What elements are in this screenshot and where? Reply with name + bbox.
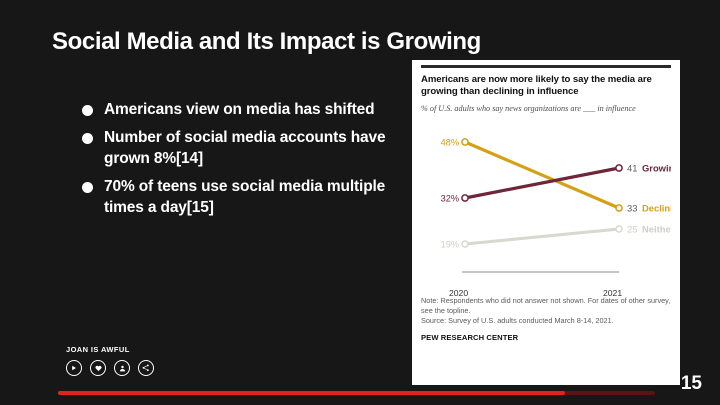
x-tick-2021: 2021 [603,288,622,298]
end-name-growing: Growing [642,162,671,173]
chart-plot-area: 48% 32% 19% 41 Growing 33 Declining 25 N… [421,120,671,290]
series-line-growing [465,168,619,198]
progress-bar-fill [58,391,565,395]
end-name-declining: Declining [642,202,671,213]
series-line-neither [465,229,619,244]
chart-brand: PEW RESEARCH CENTER [421,333,671,342]
list-item: 70% of teens use social media multiple t… [82,177,392,218]
data-point-declining-2020 [462,139,468,145]
data-point-neither-2020 [462,241,468,247]
chart-source: Source: Survey of U.S. adults conducted … [421,316,671,326]
brand-name: JOAN IS AWFUL [66,345,154,354]
page-title: Social Media and Its Impact is Growing [52,28,481,56]
bullet-text: Americans view on media has shifted [104,100,374,120]
progress-bar[interactable] [58,391,655,395]
social-button-row [66,360,154,376]
bullet-dot-icon [82,133,93,144]
x-tick-2020: 2020 [449,288,468,298]
data-point-neither-2021 [616,226,622,232]
list-item: Americans view on media has shifted [82,100,392,120]
play-icon [71,365,77,371]
share-button[interactable] [138,360,154,376]
list-item: Number of social media accounts have gro… [82,128,392,169]
start-label-declining: 48% [441,137,459,147]
heart-icon [95,365,102,372]
bullet-dot-icon [82,105,93,116]
bullet-list: Americans view on media has shifted Numb… [82,100,392,226]
chart-card: Americans are now more likely to say the… [412,60,680,385]
chart-title: Americans are now more likely to say the… [421,74,671,98]
chart-subtitle: % of U.S. adults who say news organizati… [421,103,671,114]
share-icon [142,364,150,372]
page-number: 15 [681,373,702,395]
x-axis-tick-labels: 2020 2021 [421,288,671,302]
series-line-declining [465,142,619,208]
end-name-neither: Neither [642,223,671,234]
like-button[interactable] [90,360,106,376]
profile-button[interactable] [114,360,130,376]
end-value-growing: 41 [627,162,637,173]
play-button[interactable] [66,360,82,376]
bullet-dot-icon [82,182,93,193]
data-point-growing-2020 [462,195,468,201]
slide: Social Media and Its Impact is Growing A… [0,0,720,405]
data-point-growing-2021 [616,165,622,171]
data-point-declining-2021 [616,205,622,211]
bullet-text: 70% of teens use social media multiple t… [104,177,392,218]
branding: JOAN IS AWFUL [66,345,154,376]
start-label-neither: 19% [441,239,459,249]
end-value-neither: 25 [627,223,637,234]
end-value-declining: 33 [627,202,637,213]
line-chart-svg: 48% 32% 19% 41 Growing 33 Declining 25 N… [421,120,671,290]
start-label-growing: 32% [441,193,459,203]
card-top-rule [421,65,671,68]
person-icon [119,365,126,372]
bullet-text: Number of social media accounts have gro… [104,128,392,169]
